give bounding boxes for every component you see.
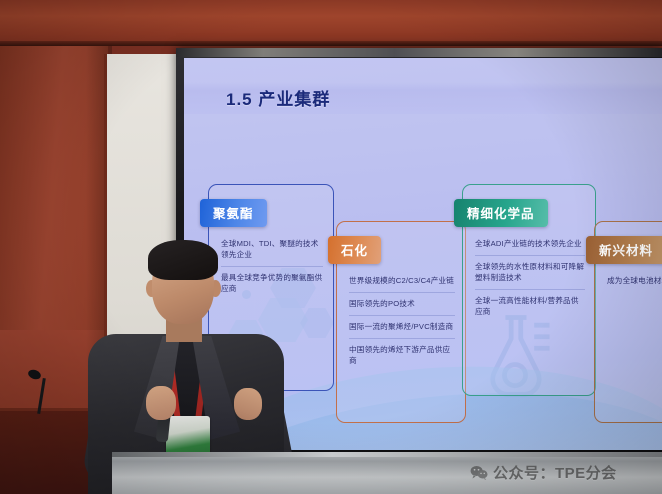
card-bullet: 世界级规模的C2/C3/C4产业链: [349, 270, 455, 293]
card-bullet-list: 成为全球电池材料领先企业: [607, 270, 662, 292]
watermark: 公众号：TPE分会: [470, 462, 617, 483]
card-bullet-list: 世界级规模的C2/C3/C4产业链 国际领先的PO技术 国际一流的聚烯烃/PVC…: [349, 270, 455, 372]
cluster-card-fine-chemicals[interactable]: 精细化学品 全球ADI产业链的技术领先企业 全球领先的水性原材料和可降解塑料制造…: [462, 184, 596, 396]
front-table-edge: [112, 452, 662, 457]
cluster-card-petrochemical[interactable]: 石化 世界级规模的C2/C3/C4产业链 国际领先的PO技术 国际一流的聚烯烃/…: [336, 221, 466, 423]
display-bezel-glint: [176, 48, 662, 57]
card-bullet: 国际一流的聚烯烃/PVC制造商: [349, 316, 455, 339]
presenter-hand-left: [146, 386, 176, 420]
slide-title: 1.5 产业集群: [226, 85, 330, 110]
photo-scene: 1.5 产业集群 聚氨酯 全球MDI、TDI、聚醚的技术领先企业 最具: [0, 0, 662, 494]
card-bullet: 国际领先的PO技术: [349, 293, 455, 316]
card-bullet-list: 全球ADI产业链的技术领先企业 全球领先的水性原材料和可降解塑料制造技术 全球一…: [475, 233, 585, 323]
card-bullet: 全球一流高性能材料/营养品供应商: [475, 290, 585, 323]
card-header-label: 石化: [328, 236, 381, 264]
card-header-label: 新兴材料: [586, 236, 662, 264]
presenter-hair: [148, 240, 218, 280]
card-header-label: 聚氨酯: [200, 199, 267, 227]
card-bullet: 全球领先的水性原材料和可降解塑料制造技术: [475, 256, 585, 290]
card-bullet: 成为全球电池材料领先企业: [607, 270, 662, 292]
watermark-text: 公众号：TPE分会: [493, 462, 617, 483]
presenter-hand-right: [234, 388, 262, 420]
card-bullet: 全球ADI产业链的技术领先企业: [475, 233, 585, 256]
card-header-label: 精细化学品: [454, 199, 548, 227]
cluster-card-emerging-materials[interactable]: 新兴材料 成为全球电池材料领先企业: [594, 221, 662, 423]
wechat-icon: [470, 465, 488, 480]
room-wall-top: [0, 0, 662, 46]
card-bullet: 中国领先的烯烃下游产品供应商: [349, 339, 455, 372]
